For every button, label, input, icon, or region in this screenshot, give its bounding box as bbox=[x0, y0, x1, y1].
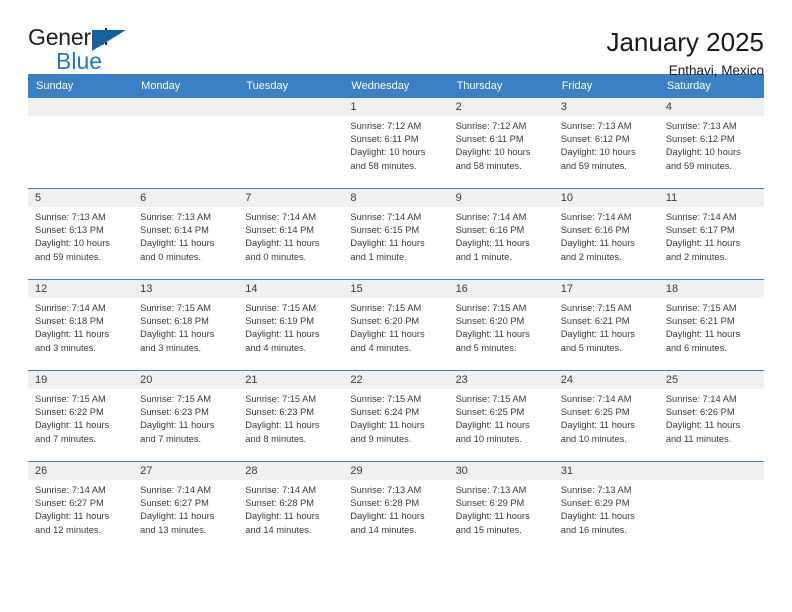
day-number: 21 bbox=[238, 371, 343, 389]
day-number: 2 bbox=[449, 98, 554, 116]
calendar-day-cell[interactable]: 14Sunrise: 7:15 AMSunset: 6:19 PMDayligh… bbox=[238, 280, 343, 371]
daylight-text-line1: Daylight: 10 hours bbox=[456, 146, 549, 159]
calendar-body: 1Sunrise: 7:12 AMSunset: 6:11 PMDaylight… bbox=[28, 98, 764, 552]
sunset-text: Sunset: 6:21 PM bbox=[561, 315, 654, 328]
daylight-text-line1: Daylight: 11 hours bbox=[350, 510, 443, 523]
day-details: Sunrise: 7:14 AMSunset: 6:16 PMDaylight:… bbox=[449, 207, 554, 264]
calendar-day-cell[interactable]: 13Sunrise: 7:15 AMSunset: 6:18 PMDayligh… bbox=[133, 280, 238, 371]
daylight-text-line1: Daylight: 11 hours bbox=[350, 237, 443, 250]
sunrise-text: Sunrise: 7:12 AM bbox=[456, 120, 549, 133]
daylight-text-line2: and 12 minutes. bbox=[35, 524, 128, 537]
daylight-text-line2: and 0 minutes. bbox=[140, 251, 233, 264]
sunrise-text: Sunrise: 7:15 AM bbox=[350, 302, 443, 315]
sunset-text: Sunset: 6:14 PM bbox=[245, 224, 338, 237]
day-details: Sunrise: 7:15 AMSunset: 6:19 PMDaylight:… bbox=[238, 298, 343, 355]
daylight-text-line1: Daylight: 11 hours bbox=[456, 328, 549, 341]
sunset-text: Sunset: 6:18 PM bbox=[35, 315, 128, 328]
page-subtitle: Enthavi, Mexico bbox=[606, 63, 764, 78]
calendar-day-cell[interactable]: 11Sunrise: 7:14 AMSunset: 6:17 PMDayligh… bbox=[659, 189, 764, 280]
day-number: 7 bbox=[238, 189, 343, 207]
calendar-day-cell[interactable]: 29Sunrise: 7:13 AMSunset: 6:28 PMDayligh… bbox=[343, 462, 448, 553]
sunrise-text: Sunrise: 7:13 AM bbox=[35, 211, 128, 224]
calendar-header-row: Sunday Monday Tuesday Wednesday Thursday… bbox=[28, 74, 764, 98]
day-details: Sunrise: 7:14 AMSunset: 6:16 PMDaylight:… bbox=[554, 207, 659, 264]
day-number: 24 bbox=[554, 371, 659, 389]
day-details: Sunrise: 7:13 AMSunset: 6:13 PMDaylight:… bbox=[28, 207, 133, 264]
daylight-text-line2: and 6 minutes. bbox=[666, 342, 759, 355]
sunrise-text: Sunrise: 7:14 AM bbox=[245, 211, 338, 224]
calendar-day-cell[interactable]: 10Sunrise: 7:14 AMSunset: 6:16 PMDayligh… bbox=[554, 189, 659, 280]
daylight-text-line1: Daylight: 11 hours bbox=[35, 510, 128, 523]
daylight-text-line2: and 59 minutes. bbox=[35, 251, 128, 264]
calendar-day-cell[interactable]: 20Sunrise: 7:15 AMSunset: 6:23 PMDayligh… bbox=[133, 371, 238, 462]
day-number: 25 bbox=[659, 371, 764, 389]
daylight-text-line2: and 1 minute. bbox=[350, 251, 443, 264]
calendar-day-cell-empty bbox=[133, 98, 238, 189]
day-details: Sunrise: 7:13 AMSunset: 6:12 PMDaylight:… bbox=[659, 116, 764, 173]
sunrise-text: Sunrise: 7:13 AM bbox=[350, 484, 443, 497]
day-number: 20 bbox=[133, 371, 238, 389]
calendar-day-cell[interactable]: 7Sunrise: 7:14 AMSunset: 6:14 PMDaylight… bbox=[238, 189, 343, 280]
sunset-text: Sunset: 6:23 PM bbox=[245, 406, 338, 419]
daylight-text-line1: Daylight: 11 hours bbox=[350, 419, 443, 432]
daylight-text-line1: Daylight: 11 hours bbox=[561, 328, 654, 341]
daylight-text-line2: and 5 minutes. bbox=[561, 342, 654, 355]
day-number: 23 bbox=[449, 371, 554, 389]
calendar-day-cell[interactable]: 12Sunrise: 7:14 AMSunset: 6:18 PMDayligh… bbox=[28, 280, 133, 371]
day-number: 12 bbox=[28, 280, 133, 298]
calendar-day-cell[interactable]: 30Sunrise: 7:13 AMSunset: 6:29 PMDayligh… bbox=[449, 462, 554, 553]
sunset-text: Sunset: 6:14 PM bbox=[140, 224, 233, 237]
day-number: 14 bbox=[238, 280, 343, 298]
weekday-header-saturday: Saturday bbox=[659, 74, 764, 98]
day-number: 1 bbox=[343, 98, 448, 116]
daylight-text-line1: Daylight: 11 hours bbox=[456, 237, 549, 250]
calendar-page: General Blue January 2025 Enthavi, Mexic… bbox=[0, 0, 792, 612]
day-number: 16 bbox=[449, 280, 554, 298]
daylight-text-line2: and 14 minutes. bbox=[245, 524, 338, 537]
sunrise-text: Sunrise: 7:13 AM bbox=[140, 211, 233, 224]
day-details: Sunrise: 7:14 AMSunset: 6:27 PMDaylight:… bbox=[133, 480, 238, 537]
calendar-day-cell[interactable]: 16Sunrise: 7:15 AMSunset: 6:20 PMDayligh… bbox=[449, 280, 554, 371]
day-number: 11 bbox=[659, 189, 764, 207]
calendar-day-cell[interactable]: 23Sunrise: 7:15 AMSunset: 6:25 PMDayligh… bbox=[449, 371, 554, 462]
day-details: Sunrise: 7:15 AMSunset: 6:22 PMDaylight:… bbox=[28, 389, 133, 446]
daylight-text-line1: Daylight: 11 hours bbox=[456, 510, 549, 523]
day-number bbox=[133, 98, 238, 116]
day-number: 9 bbox=[449, 189, 554, 207]
sunrise-text: Sunrise: 7:15 AM bbox=[140, 302, 233, 315]
day-number bbox=[659, 462, 764, 480]
daylight-text-line2: and 3 minutes. bbox=[140, 342, 233, 355]
day-number: 19 bbox=[28, 371, 133, 389]
calendar-day-cell[interactable]: 19Sunrise: 7:15 AMSunset: 6:22 PMDayligh… bbox=[28, 371, 133, 462]
calendar-day-cell[interactable]: 4Sunrise: 7:13 AMSunset: 6:12 PMDaylight… bbox=[659, 98, 764, 189]
sunrise-text: Sunrise: 7:14 AM bbox=[561, 393, 654, 406]
calendar-day-cell[interactable]: 6Sunrise: 7:13 AMSunset: 6:14 PMDaylight… bbox=[133, 189, 238, 280]
sunset-text: Sunset: 6:22 PM bbox=[35, 406, 128, 419]
daylight-text-line1: Daylight: 11 hours bbox=[140, 328, 233, 341]
calendar-week-row: 26Sunrise: 7:14 AMSunset: 6:27 PMDayligh… bbox=[28, 462, 764, 553]
sunrise-text: Sunrise: 7:15 AM bbox=[561, 302, 654, 315]
sunset-text: Sunset: 6:20 PM bbox=[456, 315, 549, 328]
sunrise-text: Sunrise: 7:13 AM bbox=[666, 120, 759, 133]
sunset-text: Sunset: 6:11 PM bbox=[350, 133, 443, 146]
daylight-text-line2: and 59 minutes. bbox=[561, 160, 654, 173]
daylight-text-line1: Daylight: 11 hours bbox=[245, 237, 338, 250]
day-number: 6 bbox=[133, 189, 238, 207]
sunset-text: Sunset: 6:27 PM bbox=[35, 497, 128, 510]
day-details: Sunrise: 7:14 AMSunset: 6:18 PMDaylight:… bbox=[28, 298, 133, 355]
daylight-text-line2: and 4 minutes. bbox=[245, 342, 338, 355]
daylight-text-line1: Daylight: 11 hours bbox=[666, 237, 759, 250]
day-details: Sunrise: 7:13 AMSunset: 6:14 PMDaylight:… bbox=[133, 207, 238, 264]
calendar-day-cell[interactable]: 1Sunrise: 7:12 AMSunset: 6:11 PMDaylight… bbox=[343, 98, 448, 189]
sunrise-text: Sunrise: 7:14 AM bbox=[561, 211, 654, 224]
calendar-day-cell-empty bbox=[238, 98, 343, 189]
day-details: Sunrise: 7:15 AMSunset: 6:18 PMDaylight:… bbox=[133, 298, 238, 355]
title-block: January 2025 Enthavi, Mexico bbox=[606, 26, 764, 78]
day-number: 10 bbox=[554, 189, 659, 207]
sunrise-text: Sunrise: 7:14 AM bbox=[245, 484, 338, 497]
weekday-header-wednesday: Wednesday bbox=[343, 74, 448, 98]
weekday-header-monday: Monday bbox=[133, 74, 238, 98]
day-number: 28 bbox=[238, 462, 343, 480]
sunrise-text: Sunrise: 7:14 AM bbox=[350, 211, 443, 224]
daylight-text-line2: and 13 minutes. bbox=[140, 524, 233, 537]
calendar-day-cell-empty bbox=[659, 462, 764, 553]
daylight-text-line1: Daylight: 10 hours bbox=[561, 146, 654, 159]
sunset-text: Sunset: 6:12 PM bbox=[561, 133, 654, 146]
day-details: Sunrise: 7:15 AMSunset: 6:25 PMDaylight:… bbox=[449, 389, 554, 446]
day-details: Sunrise: 7:12 AMSunset: 6:11 PMDaylight:… bbox=[449, 116, 554, 173]
sunrise-text: Sunrise: 7:15 AM bbox=[350, 393, 443, 406]
calendar-day-cell[interactable]: 26Sunrise: 7:14 AMSunset: 6:27 PMDayligh… bbox=[28, 462, 133, 553]
day-details: Sunrise: 7:15 AMSunset: 6:23 PMDaylight:… bbox=[133, 389, 238, 446]
day-number: 15 bbox=[343, 280, 448, 298]
daylight-text-line2: and 2 minutes. bbox=[561, 251, 654, 264]
sunset-text: Sunset: 6:29 PM bbox=[561, 497, 654, 510]
daylight-text-line2: and 16 minutes. bbox=[561, 524, 654, 537]
sunrise-text: Sunrise: 7:14 AM bbox=[35, 484, 128, 497]
sunset-text: Sunset: 6:25 PM bbox=[456, 406, 549, 419]
daylight-text-line2: and 8 minutes. bbox=[245, 433, 338, 446]
sunset-text: Sunset: 6:17 PM bbox=[666, 224, 759, 237]
daylight-text-line2: and 3 minutes. bbox=[35, 342, 128, 355]
calendar-week-row: 19Sunrise: 7:15 AMSunset: 6:22 PMDayligh… bbox=[28, 371, 764, 462]
sunset-text: Sunset: 6:25 PM bbox=[561, 406, 654, 419]
daylight-text-line1: Daylight: 11 hours bbox=[245, 510, 338, 523]
day-details: Sunrise: 7:14 AMSunset: 6:15 PMDaylight:… bbox=[343, 207, 448, 264]
sunrise-text: Sunrise: 7:15 AM bbox=[140, 393, 233, 406]
daylight-text-line1: Daylight: 11 hours bbox=[35, 328, 128, 341]
daylight-text-line2: and 59 minutes. bbox=[666, 160, 759, 173]
sunset-text: Sunset: 6:16 PM bbox=[456, 224, 549, 237]
day-details: Sunrise: 7:14 AMSunset: 6:17 PMDaylight:… bbox=[659, 207, 764, 264]
calendar-week-row: 5Sunrise: 7:13 AMSunset: 6:13 PMDaylight… bbox=[28, 189, 764, 280]
sunset-text: Sunset: 6:12 PM bbox=[666, 133, 759, 146]
weekday-header-sunday: Sunday bbox=[28, 74, 133, 98]
sunset-text: Sunset: 6:28 PM bbox=[350, 497, 443, 510]
sunrise-text: Sunrise: 7:14 AM bbox=[666, 211, 759, 224]
day-number: 31 bbox=[554, 462, 659, 480]
sunrise-text: Sunrise: 7:14 AM bbox=[456, 211, 549, 224]
day-number bbox=[238, 98, 343, 116]
sunrise-text: Sunrise: 7:15 AM bbox=[35, 393, 128, 406]
day-details: Sunrise: 7:15 AMSunset: 6:21 PMDaylight:… bbox=[659, 298, 764, 355]
day-number: 18 bbox=[659, 280, 764, 298]
calendar-day-cell[interactable]: 15Sunrise: 7:15 AMSunset: 6:20 PMDayligh… bbox=[343, 280, 448, 371]
daylight-text-line2: and 58 minutes. bbox=[350, 160, 443, 173]
sunset-text: Sunset: 6:26 PM bbox=[666, 406, 759, 419]
daylight-text-line1: Daylight: 11 hours bbox=[245, 328, 338, 341]
daylight-text-line1: Daylight: 11 hours bbox=[561, 510, 654, 523]
daylight-text-line1: Daylight: 11 hours bbox=[666, 419, 759, 432]
day-details: Sunrise: 7:13 AMSunset: 6:12 PMDaylight:… bbox=[554, 116, 659, 173]
day-number: 8 bbox=[343, 189, 448, 207]
weekday-header-friday: Friday bbox=[554, 74, 659, 98]
sunrise-text: Sunrise: 7:15 AM bbox=[666, 302, 759, 315]
sunset-text: Sunset: 6:15 PM bbox=[350, 224, 443, 237]
daylight-text-line2: and 2 minutes. bbox=[666, 251, 759, 264]
daylight-text-line2: and 5 minutes. bbox=[456, 342, 549, 355]
sunrise-text: Sunrise: 7:14 AM bbox=[666, 393, 759, 406]
sunset-text: Sunset: 6:16 PM bbox=[561, 224, 654, 237]
sunset-text: Sunset: 6:11 PM bbox=[456, 133, 549, 146]
calendar-day-cell[interactable]: 3Sunrise: 7:13 AMSunset: 6:12 PMDaylight… bbox=[554, 98, 659, 189]
daylight-text-line2: and 14 minutes. bbox=[350, 524, 443, 537]
day-details: Sunrise: 7:15 AMSunset: 6:20 PMDaylight:… bbox=[343, 298, 448, 355]
day-details: Sunrise: 7:15 AMSunset: 6:24 PMDaylight:… bbox=[343, 389, 448, 446]
sunset-text: Sunset: 6:27 PM bbox=[140, 497, 233, 510]
sunrise-text: Sunrise: 7:14 AM bbox=[35, 302, 128, 315]
brand-logo[interactable]: General Blue bbox=[28, 26, 138, 72]
daylight-text-line1: Daylight: 11 hours bbox=[350, 328, 443, 341]
daylight-text-line1: Daylight: 11 hours bbox=[140, 237, 233, 250]
day-number: 26 bbox=[28, 462, 133, 480]
calendar-week-row: 12Sunrise: 7:14 AMSunset: 6:18 PMDayligh… bbox=[28, 280, 764, 371]
daylight-text-line1: Daylight: 10 hours bbox=[350, 146, 443, 159]
sunrise-text: Sunrise: 7:15 AM bbox=[456, 393, 549, 406]
sunrise-text: Sunrise: 7:12 AM bbox=[350, 120, 443, 133]
calendar-day-cell[interactable]: 2Sunrise: 7:12 AMSunset: 6:11 PMDaylight… bbox=[449, 98, 554, 189]
sunrise-text: Sunrise: 7:13 AM bbox=[561, 484, 654, 497]
page-title: January 2025 bbox=[606, 28, 764, 57]
day-number: 27 bbox=[133, 462, 238, 480]
day-details: Sunrise: 7:15 AMSunset: 6:20 PMDaylight:… bbox=[449, 298, 554, 355]
sunrise-text: Sunrise: 7:15 AM bbox=[456, 302, 549, 315]
daylight-text-line2: and 9 minutes. bbox=[350, 433, 443, 446]
sunset-text: Sunset: 6:23 PM bbox=[140, 406, 233, 419]
calendar-day-cell[interactable]: 8Sunrise: 7:14 AMSunset: 6:15 PMDaylight… bbox=[343, 189, 448, 280]
daylight-text-line2: and 7 minutes. bbox=[35, 433, 128, 446]
calendar-day-cell-empty bbox=[28, 98, 133, 189]
day-details: Sunrise: 7:14 AMSunset: 6:14 PMDaylight:… bbox=[238, 207, 343, 264]
daylight-text-line1: Daylight: 11 hours bbox=[35, 419, 128, 432]
sunrise-text: Sunrise: 7:14 AM bbox=[140, 484, 233, 497]
weekday-header-tuesday: Tuesday bbox=[238, 74, 343, 98]
daylight-text-line1: Daylight: 11 hours bbox=[456, 419, 549, 432]
day-number: 30 bbox=[449, 462, 554, 480]
sunset-text: Sunset: 6:28 PM bbox=[245, 497, 338, 510]
sunset-text: Sunset: 6:29 PM bbox=[456, 497, 549, 510]
weekday-header-thursday: Thursday bbox=[449, 74, 554, 98]
sunrise-text: Sunrise: 7:15 AM bbox=[245, 302, 338, 315]
calendar-day-cell[interactable]: 27Sunrise: 7:14 AMSunset: 6:27 PMDayligh… bbox=[133, 462, 238, 553]
calendar-day-cell[interactable]: 17Sunrise: 7:15 AMSunset: 6:21 PMDayligh… bbox=[554, 280, 659, 371]
calendar-day-cell[interactable]: 31Sunrise: 7:13 AMSunset: 6:29 PMDayligh… bbox=[554, 462, 659, 553]
day-number: 29 bbox=[343, 462, 448, 480]
triangle-icon bbox=[92, 30, 126, 51]
calendar-week-row: 1Sunrise: 7:12 AMSunset: 6:11 PMDaylight… bbox=[28, 98, 764, 189]
day-number: 22 bbox=[343, 371, 448, 389]
daylight-text-line2: and 10 minutes. bbox=[561, 433, 654, 446]
sunset-text: Sunset: 6:21 PM bbox=[666, 315, 759, 328]
day-number: 17 bbox=[554, 280, 659, 298]
daylight-text-line1: Daylight: 11 hours bbox=[666, 328, 759, 341]
sunset-text: Sunset: 6:19 PM bbox=[245, 315, 338, 328]
daylight-text-line2: and 10 minutes. bbox=[456, 433, 549, 446]
sunrise-text: Sunrise: 7:15 AM bbox=[245, 393, 338, 406]
daylight-text-line1: Daylight: 11 hours bbox=[140, 510, 233, 523]
page-header: General Blue January 2025 Enthavi, Mexic… bbox=[28, 0, 764, 74]
day-number: 5 bbox=[28, 189, 133, 207]
sunrise-text: Sunrise: 7:13 AM bbox=[456, 484, 549, 497]
daylight-text-line2: and 1 minute. bbox=[456, 251, 549, 264]
calendar-day-cell[interactable]: 24Sunrise: 7:14 AMSunset: 6:25 PMDayligh… bbox=[554, 371, 659, 462]
day-details: Sunrise: 7:14 AMSunset: 6:26 PMDaylight:… bbox=[659, 389, 764, 446]
logo-text-blue: Blue bbox=[56, 50, 138, 73]
day-details: Sunrise: 7:12 AMSunset: 6:11 PMDaylight:… bbox=[343, 116, 448, 173]
day-number bbox=[28, 98, 133, 116]
calendar-day-cell[interactable]: 9Sunrise: 7:14 AMSunset: 6:16 PMDaylight… bbox=[449, 189, 554, 280]
daylight-text-line1: Daylight: 11 hours bbox=[245, 419, 338, 432]
daylight-text-line2: and 15 minutes. bbox=[456, 524, 549, 537]
calendar-day-cell[interactable]: 21Sunrise: 7:15 AMSunset: 6:23 PMDayligh… bbox=[238, 371, 343, 462]
sunset-text: Sunset: 6:18 PM bbox=[140, 315, 233, 328]
day-details: Sunrise: 7:14 AMSunset: 6:25 PMDaylight:… bbox=[554, 389, 659, 446]
day-details: Sunrise: 7:13 AMSunset: 6:29 PMDaylight:… bbox=[449, 480, 554, 537]
sunset-text: Sunset: 6:20 PM bbox=[350, 315, 443, 328]
sunrise-text: Sunrise: 7:13 AM bbox=[561, 120, 654, 133]
daylight-text-line2: and 58 minutes. bbox=[456, 160, 549, 173]
calendar-day-cell[interactable]: 18Sunrise: 7:15 AMSunset: 6:21 PMDayligh… bbox=[659, 280, 764, 371]
day-details: Sunrise: 7:13 AMSunset: 6:28 PMDaylight:… bbox=[343, 480, 448, 537]
daylight-text-line2: and 4 minutes. bbox=[350, 342, 443, 355]
daylight-text-line1: Daylight: 11 hours bbox=[561, 419, 654, 432]
calendar-day-cell[interactable]: 22Sunrise: 7:15 AMSunset: 6:24 PMDayligh… bbox=[343, 371, 448, 462]
calendar-day-cell[interactable]: 28Sunrise: 7:14 AMSunset: 6:28 PMDayligh… bbox=[238, 462, 343, 553]
daylight-text-line1: Daylight: 11 hours bbox=[561, 237, 654, 250]
day-details: Sunrise: 7:15 AMSunset: 6:23 PMDaylight:… bbox=[238, 389, 343, 446]
daylight-text-line2: and 7 minutes. bbox=[140, 433, 233, 446]
daylight-text-line1: Daylight: 11 hours bbox=[140, 419, 233, 432]
day-details: Sunrise: 7:14 AMSunset: 6:27 PMDaylight:… bbox=[28, 480, 133, 537]
calendar-day-cell[interactable]: 25Sunrise: 7:14 AMSunset: 6:26 PMDayligh… bbox=[659, 371, 764, 462]
calendar-grid: Sunday Monday Tuesday Wednesday Thursday… bbox=[28, 74, 764, 552]
calendar-day-cell[interactable]: 5Sunrise: 7:13 AMSunset: 6:13 PMDaylight… bbox=[28, 189, 133, 280]
day-number: 3 bbox=[554, 98, 659, 116]
day-number: 13 bbox=[133, 280, 238, 298]
daylight-text-line1: Daylight: 10 hours bbox=[35, 237, 128, 250]
day-number: 4 bbox=[659, 98, 764, 116]
sunset-text: Sunset: 6:24 PM bbox=[350, 406, 443, 419]
daylight-text-line2: and 11 minutes. bbox=[666, 433, 759, 446]
daylight-text-line1: Daylight: 10 hours bbox=[666, 146, 759, 159]
day-details: Sunrise: 7:13 AMSunset: 6:29 PMDaylight:… bbox=[554, 480, 659, 537]
day-details: Sunrise: 7:15 AMSunset: 6:21 PMDaylight:… bbox=[554, 298, 659, 355]
day-details: Sunrise: 7:14 AMSunset: 6:28 PMDaylight:… bbox=[238, 480, 343, 537]
sunset-text: Sunset: 6:13 PM bbox=[35, 224, 128, 237]
daylight-text-line2: and 0 minutes. bbox=[245, 251, 338, 264]
